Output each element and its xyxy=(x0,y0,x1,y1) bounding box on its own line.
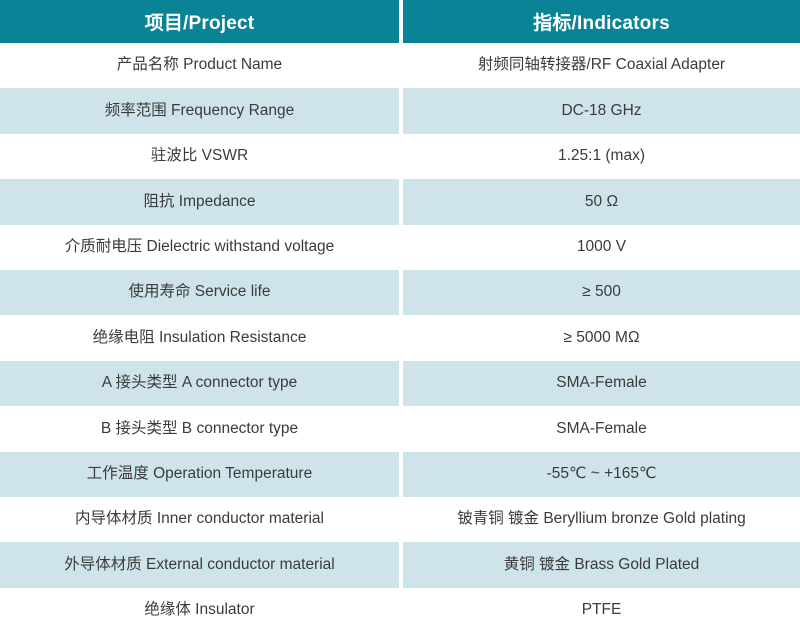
table-header-row: 项目/Project 指标/Indicators xyxy=(0,0,800,43)
cell-project: 绝缘电阻 Insulation Resistance xyxy=(0,315,399,360)
cell-indicator: PTFE xyxy=(403,588,800,633)
cell-project: 内导体材质 Inner conductor material xyxy=(0,497,399,542)
cell-indicator: 1000 V xyxy=(403,225,800,270)
table-row: 外导体材质 External conductor material黄铜 镀金 B… xyxy=(0,542,800,587)
cell-project: 阻抗 Impedance xyxy=(0,179,399,224)
cell-indicator: DC-18 GHz xyxy=(403,88,800,133)
cell-project: 使用寿命 Service life xyxy=(0,270,399,315)
table-row: 绝缘电阻 Insulation Resistance≥ 5000 MΩ xyxy=(0,315,800,360)
table-row: 绝缘体 InsulatorPTFE xyxy=(0,588,800,633)
cell-project: 工作温度 Operation Temperature xyxy=(0,452,399,497)
cell-project: 产品名称 Product Name xyxy=(0,43,399,88)
cell-indicator: SMA-Female xyxy=(403,406,800,451)
cell-indicator: 50 Ω xyxy=(403,179,800,224)
cell-indicator: 铍青铜 镀金 Beryllium bronze Gold plating xyxy=(403,497,800,542)
table-row: 频率范围 Frequency RangeDC-18 GHz xyxy=(0,88,800,133)
table-row: 产品名称 Product Name射频同轴转接器/RF Coaxial Adap… xyxy=(0,43,800,88)
table-row: A 接头类型 A connector typeSMA-Female xyxy=(0,361,800,406)
cell-project: B 接头类型 B connector type xyxy=(0,406,399,451)
table-row: 内导体材质 Inner conductor material铍青铜 镀金 Ber… xyxy=(0,497,800,542)
cell-project: A 接头类型 A connector type xyxy=(0,361,399,406)
table-row: 使用寿命 Service life≥ 500 xyxy=(0,270,800,315)
column-header-project: 项目/Project xyxy=(0,0,399,43)
cell-project: 绝缘体 Insulator xyxy=(0,588,399,633)
cell-indicator: 1.25:1 (max) xyxy=(403,134,800,179)
table-row: 阻抗 Impedance50 Ω xyxy=(0,179,800,224)
cell-indicator: -55℃ ~ +165℃ xyxy=(403,452,800,497)
table-row: 驻波比 VSWR1.25:1 (max) xyxy=(0,134,800,179)
cell-indicator: SMA-Female xyxy=(403,361,800,406)
cell-project: 介质耐电压 Dielectric withstand voltage xyxy=(0,225,399,270)
column-header-indicators: 指标/Indicators xyxy=(403,0,800,43)
table-row: 介质耐电压 Dielectric withstand voltage1000 V xyxy=(0,225,800,270)
cell-indicator: 射频同轴转接器/RF Coaxial Adapter xyxy=(403,43,800,88)
cell-project: 外导体材质 External conductor material xyxy=(0,542,399,587)
cell-project: 频率范围 Frequency Range xyxy=(0,88,399,133)
cell-indicator: ≥ 500 xyxy=(403,270,800,315)
cell-project: 驻波比 VSWR xyxy=(0,134,399,179)
cell-indicator: ≥ 5000 MΩ xyxy=(403,315,800,360)
table-row: B 接头类型 B connector typeSMA-Female xyxy=(0,406,800,451)
table-row: 工作温度 Operation Temperature-55℃ ~ +165℃ xyxy=(0,452,800,497)
cell-indicator: 黄铜 镀金 Brass Gold Plated xyxy=(403,542,800,587)
table-body: 产品名称 Product Name射频同轴转接器/RF Coaxial Adap… xyxy=(0,43,800,633)
specification-table: 项目/Project 指标/Indicators 产品名称 Product Na… xyxy=(0,0,800,633)
